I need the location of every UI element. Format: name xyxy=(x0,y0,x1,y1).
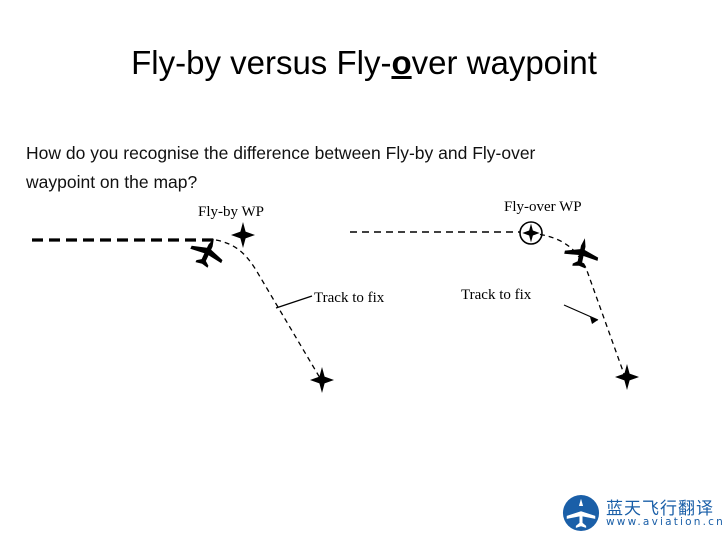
brand-logo: 蓝天飞行翻译 www.aviation.cn xyxy=(562,492,718,538)
fly-over-track-leader xyxy=(564,305,598,320)
fly-by-diagram: Fly-by WP Track to fix xyxy=(32,204,385,393)
fly-by-waypoint-label: Fly-by WP xyxy=(198,204,264,220)
fly-by-track-label: Track to fix xyxy=(314,290,385,306)
body-text-line-1: How do you recognise the difference betw… xyxy=(26,139,698,168)
fly-by-aircraft-symbol xyxy=(186,231,229,272)
page-title-post: ver waypoint xyxy=(412,44,597,81)
fly-by-fix-star xyxy=(310,367,334,393)
fly-by-track-leader xyxy=(276,296,312,308)
page-title: Fly-by versus Fly-over waypoint xyxy=(0,44,728,82)
fly-over-diagram: Fly-over WP Track to fix xyxy=(350,199,639,390)
slide: Fly-by versus Fly-over waypoint How do y… xyxy=(0,0,728,546)
fly-over-fix-star xyxy=(615,364,639,390)
fly-by-waypoint-star xyxy=(231,222,255,248)
page-title-pre: Fly-by versus Fly- xyxy=(131,44,391,81)
body-text: How do you recognise the difference betw… xyxy=(26,139,698,197)
fly-over-waypoint-label: Fly-over WP xyxy=(504,199,582,215)
fly-over-aircraft-symbol xyxy=(562,235,601,271)
fly-over-track-label: Track to fix xyxy=(461,287,532,303)
aviation-logo-icon xyxy=(562,494,600,532)
logo-url: www.aviation.cn xyxy=(606,516,725,528)
fly-by-outbound-track xyxy=(216,240,320,378)
page-title-underlined: o xyxy=(391,44,411,81)
waypoint-diagram: Fly-by WP Track to fix xyxy=(20,192,708,412)
